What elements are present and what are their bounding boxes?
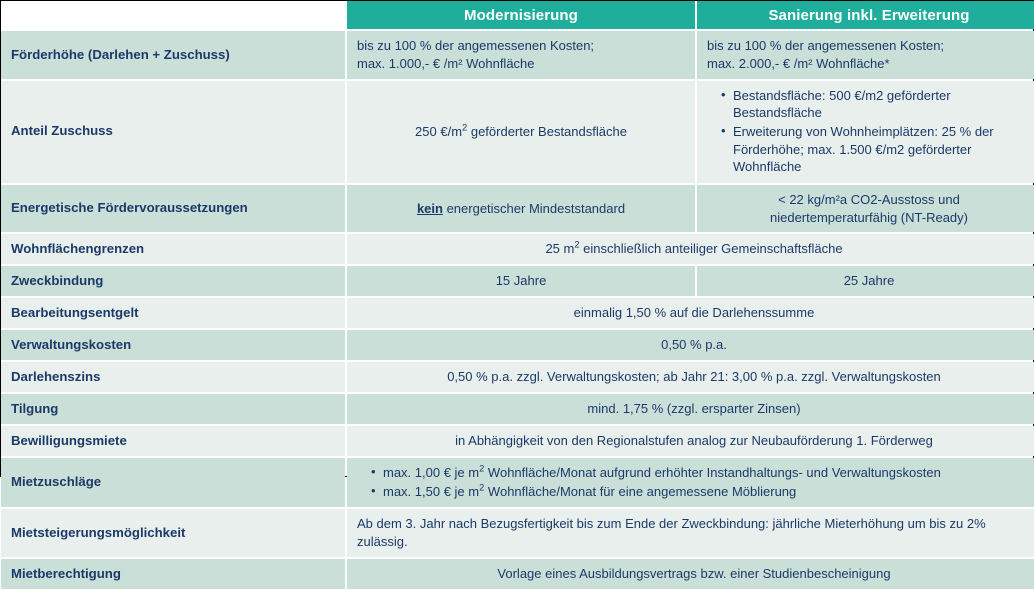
table-row: Bewilligungsmiete in Abhängigkeit von de…: [1, 426, 1034, 456]
cell-text-suffix: geförderter Bestandsfläche: [467, 124, 627, 139]
bullet-list: Bestandsfläche: 500 €/m2 geförderter Bes…: [707, 87, 1031, 176]
cell-energetische-sanierung: < 22 kg/m²a CO2-Ausstoss und niedertempe…: [697, 185, 1034, 233]
table-row: Wohnflächengrenzen 25 m2 einschließlich …: [1, 234, 1034, 264]
row-label-foerderhoehe: Förderhöhe (Darlehen + Zuschuss): [1, 31, 345, 79]
list-item: Erweiterung von Wohnheimplätzen: 25 % de…: [721, 123, 1031, 176]
row-label-mietzuschlaege: Mietzuschläge: [1, 458, 345, 507]
bullet-text: Bestandsfläche: 500 €/m2 geförderter Bes…: [733, 88, 951, 121]
cell-wohnflaechengrenzen-span: 25 m2 einschließlich anteiliger Gemeinsc…: [347, 234, 1034, 264]
header-blank-cell: [1, 1, 345, 29]
cell-bewilligungsmiete-span: in Abhängigkeit von den Regionalstufen a…: [347, 426, 1034, 456]
cell-text: bis zu 100 % der angemessenen Kosten; ma…: [707, 37, 1031, 73]
table-row: Darlehenszins 0,50 % p.a. zzgl. Verwaltu…: [1, 362, 1034, 392]
bullet-text-prefix: max. 1,50 € je m: [383, 484, 479, 499]
header-row: Modernisierung Sanierung inkl. Erweiteru…: [1, 1, 1034, 29]
table-row: Tilgung mind. 1,75 % (zzgl. ersparter Zi…: [1, 394, 1034, 424]
cell-bearbeitungsentgelt-span: einmalig 1,50 % auf die Darlehenssumme: [347, 298, 1034, 328]
row-label-verwaltungskosten: Verwaltungskosten: [1, 330, 345, 360]
cell-anteil-zuschuss-modernisierung: 250 €/m2 geförderter Bestandsfläche: [347, 81, 695, 183]
header-modernisierung: Modernisierung: [347, 1, 695, 29]
list-item: max. 1,50 € je m2 Wohnfläche/Monat für e…: [371, 483, 1031, 501]
bullet-list: max. 1,00 € je m2 Wohnfläche/Monat aufgr…: [357, 464, 1031, 500]
cell-darlehenszins-span: 0,50 % p.a. zzgl. Verwaltungskosten; ab …: [347, 362, 1034, 392]
row-label-wohnflaechengrenzen: Wohnflächengrenzen: [1, 234, 345, 264]
cell-text-rest: energetischer Mindeststandard: [443, 201, 625, 216]
bullet-text-suffix: Wohnfläche/Monat für eine angemessene Mö…: [484, 484, 796, 499]
table-row: Anteil Zuschuss 250 €/m2 geförderter Bes…: [1, 81, 1034, 183]
comparison-table-page: Modernisierung Sanierung inkl. Erweiteru…: [0, 0, 1034, 477]
header-sanierung: Sanierung inkl. Erweiterung: [697, 1, 1034, 29]
table-row: Zweckbindung 15 Jahre 25 Jahre: [1, 266, 1034, 296]
row-label-zweckbindung: Zweckbindung: [1, 266, 345, 296]
cell-text-emphasis: kein: [417, 201, 443, 216]
table-row: Energetische Fördervoraussetzungen kein …: [1, 185, 1034, 233]
cell-zweckbindung-sanierung: 25 Jahre: [697, 266, 1034, 296]
table-row: Mietberechtigung Vorlage eines Ausbildun…: [1, 559, 1034, 589]
cell-text: bis zu 100 % der angemessenen Kosten; ma…: [357, 37, 685, 73]
cell-anteil-zuschuss-sanierung: Bestandsfläche: 500 €/m2 geförderter Bes…: [697, 81, 1034, 183]
cell-mietzuschlaege-span: max. 1,00 € je m2 Wohnfläche/Monat aufgr…: [347, 458, 1034, 507]
row-label-mietberechtigung: Mietberechtigung: [1, 559, 345, 589]
cell-zweckbindung-modernisierung: 15 Jahre: [347, 266, 695, 296]
row-label-bearbeitungsentgelt: Bearbeitungsentgelt: [1, 298, 345, 328]
table-row: Mietzuschläge max. 1,00 € je m2 Wohnfläc…: [1, 458, 1034, 507]
row-label-bewilligungsmiete: Bewilligungsmiete: [1, 426, 345, 456]
table-row: Verwaltungskosten 0,50 % p.a.: [1, 330, 1034, 360]
table-row: Mietsteigerungsmöglichkeit Ab dem 3. Jah…: [1, 509, 1034, 557]
row-label-darlehenszins: Darlehenszins: [1, 362, 345, 392]
list-item: Bestandsfläche: 500 €/m2 geförderter Bes…: [721, 87, 1031, 122]
cell-tilgung-span: mind. 1,75 % (zzgl. ersparter Zinsen): [347, 394, 1034, 424]
cell-text-prefix: 250 €/m: [415, 124, 462, 139]
cell-mietberechtigung-span: Vorlage eines Ausbildungsvertrags bzw. e…: [347, 559, 1034, 589]
bullet-text-suffix: Wohnfläche/Monat aufgrund erhöhter Insta…: [484, 465, 941, 480]
cell-mietsteigerungsmoeglichkeit-span: Ab dem 3. Jahr nach Bezugsfertigkeit bis…: [347, 509, 1034, 557]
table-row: Förderhöhe (Darlehen + Zuschuss) bis zu …: [1, 31, 1034, 79]
bullet-text: Erweiterung von Wohnheimplätzen: 25 % de…: [733, 124, 994, 174]
cell-foerderhoehe-sanierung: bis zu 100 % der angemessenen Kosten; ma…: [697, 31, 1034, 79]
funding-conditions-table: Modernisierung Sanierung inkl. Erweiteru…: [0, 0, 1034, 591]
table-header: Modernisierung Sanierung inkl. Erweiteru…: [1, 1, 1034, 29]
list-item: max. 1,00 € je m2 Wohnfläche/Monat aufgr…: [371, 464, 1031, 482]
cell-foerderhoehe-modernisierung: bis zu 100 % der angemessenen Kosten; ma…: [347, 31, 695, 79]
table-body: Förderhöhe (Darlehen + Zuschuss) bis zu …: [1, 31, 1034, 589]
cell-text: < 22 kg/m²a CO2-Ausstoss und niedertempe…: [707, 191, 1031, 227]
bullet-text-prefix: max. 1,00 € je m: [383, 465, 479, 480]
cell-text-prefix: 25 m: [545, 241, 574, 256]
row-label-energetische-foerdervoraussetzungen: Energetische Fördervoraussetzungen: [1, 185, 345, 233]
table-row: Bearbeitungsentgelt einmalig 1,50 % auf …: [1, 298, 1034, 328]
cell-text-suffix: einschließlich anteiliger Gemeinschaftsf…: [580, 241, 843, 256]
row-label-tilgung: Tilgung: [1, 394, 345, 424]
row-label-anteil-zuschuss: Anteil Zuschuss: [1, 81, 345, 183]
cell-verwaltungskosten-span: 0,50 % p.a.: [347, 330, 1034, 360]
row-label-mietsteigerungsmoeglichkeit: Mietsteigerungsmöglichkeit: [1, 509, 345, 557]
cell-energetische-modernisierung: kein energetischer Mindeststandard: [347, 185, 695, 233]
